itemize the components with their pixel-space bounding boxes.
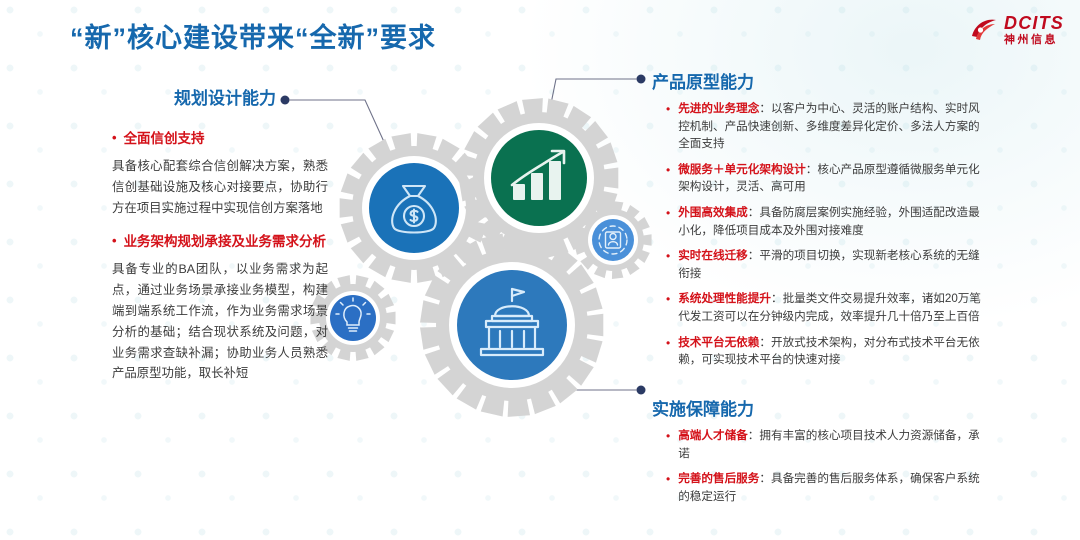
right-list-item: •外围高效集成：具备防腐层案例实施经验，外围适配改造最小化，降低项目成本及外围对… — [666, 204, 986, 239]
page-title: “新”核心建设带来“全新”要求 — [70, 16, 436, 55]
right-list-item: •技术平台无依赖：开放式技术架构，对分布式技术平台无依赖，可实现技术平台的快速对… — [666, 334, 986, 369]
right-list-item-text: 先进的业务理念：以客户为中心、灵活的账户结构、实时风控机制、产品快速创新、多维度… — [678, 100, 986, 153]
right-list-item-separator: ： — [771, 292, 783, 305]
right-list-item-lead: 技术平台无依赖 — [678, 336, 759, 349]
gear-bank-building — [420, 233, 603, 417]
bullet-dot: • — [666, 427, 670, 445]
left-block-title-row: • 业务架构规划承接及业务需求分析 — [112, 232, 328, 253]
right-list-item: •先进的业务理念：以客户为中心、灵活的账户结构、实时风控机制、产品快速创新、多维… — [666, 100, 986, 153]
right-list-item-text: 外围高效集成：具备防腐层案例实施经验，外围适配改造最小化，降低项目成本及外围对接… — [678, 204, 986, 239]
right-group-product: 产品原型能力 •先进的业务理念：以客户为中心、灵活的账户结构、实时风控机制、产品… — [652, 68, 986, 369]
gear-user-badge — [574, 201, 651, 279]
left-block: • 全面信创支持 具备核心配套综合信创解决方案，熟悉信创基础设施及核心对接要点，… — [112, 129, 328, 218]
bullet-dot: • — [666, 334, 670, 352]
right-list-item: •完善的售后服务：具备完善的售后服务体系，确保客户系统的稳定运行 — [666, 470, 986, 505]
bullet-dot: • — [666, 290, 670, 308]
left-block-body: 具备专业的BA团队，以业务需求为起点，通过业务场景承接业务模型，构建端到端系统工… — [112, 259, 328, 384]
right-list-item-text: 完善的售后服务：具备完善的售后服务体系，确保客户系统的稳定运行 — [678, 470, 986, 505]
right-list-item-text: 技术平台无依赖：开放式技术架构，对分布式技术平台无依赖，可实现技术平台的快速对接 — [678, 334, 986, 369]
left-block: • 业务架构规划承接及业务需求分析 具备专业的BA团队，以业务需求为起点，通过业… — [112, 232, 328, 384]
right-list-item-separator: ： — [806, 163, 818, 176]
bullet-dot: • — [112, 232, 117, 251]
right-list-item-separator: ： — [748, 206, 760, 219]
bullet-dot: • — [666, 100, 670, 118]
right-list-item: •系统处理性能提升：批量类文件交易提升效率，诸如20万笔代发工资可以在分钟级内完… — [666, 290, 986, 325]
bullet-dot: • — [666, 204, 670, 222]
implementation-item-list: •高端人才储备：拥有丰富的核心项目技术人力资源储备，承诺•完善的售后服务：具备完… — [652, 427, 986, 505]
right-heading-product: 产品原型能力 — [652, 68, 986, 93]
gear-illustration — [300, 60, 660, 460]
left-block-title-row: • 全面信创支持 — [112, 129, 328, 150]
bullet-dot: • — [666, 247, 670, 265]
right-list-item-separator: ： — [759, 336, 771, 349]
left-text-column: 规划设计能力 • 全面信创支持 具备核心配套综合信创解决方案，熟悉信创基础设施及… — [112, 84, 328, 398]
right-text-column: 产品原型能力 •先进的业务理念：以客户为中心、灵活的账户结构、实时风控机制、产品… — [652, 68, 986, 513]
right-list-item-lead: 系统处理性能提升 — [678, 292, 771, 305]
bullet-dot: • — [666, 470, 670, 488]
logo-name: DCITS — [1004, 14, 1064, 32]
bullet-dot: • — [112, 129, 117, 148]
left-block-title: 业务架构规划承接及业务需求分析 — [124, 232, 327, 253]
product-item-list: •先进的业务理念：以客户为中心、灵活的账户结构、实时风控机制、产品快速创新、多维… — [652, 100, 986, 369]
right-list-item-text: 系统处理性能提升：批量类文件交易提升效率，诸如20万笔代发工资可以在分钟级内完成… — [678, 290, 986, 325]
right-list-item-separator: ： — [759, 102, 771, 115]
right-group-implementation: 实施保障能力 •高端人才储备：拥有丰富的核心项目技术人力资源储备，承诺•完善的售… — [652, 395, 986, 505]
right-list-item: •微服务＋单元化架构设计：核心产品原型遵循微服务单元化架构设计，灵活、高可用 — [666, 161, 986, 196]
right-heading-implementation: 实施保障能力 — [652, 395, 986, 420]
bullet-dot: • — [666, 161, 670, 179]
right-list-item-separator: ： — [748, 249, 760, 262]
right-list-item-lead: 完善的售后服务 — [678, 472, 759, 485]
logo-subname: 神州信息 — [1004, 35, 1064, 46]
right-list-item-lead: 高端人才储备 — [678, 429, 748, 442]
right-list-item-lead: 外围高效集成 — [678, 206, 748, 219]
right-list-item-text: 高端人才储备：拥有丰富的核心项目技术人力资源储备，承诺 — [678, 427, 986, 462]
right-list-item-lead: 实时在线迁移 — [678, 249, 748, 262]
right-list-item-separator: ： — [748, 429, 760, 442]
left-block-title: 全面信创支持 — [124, 129, 205, 150]
right-list-item-lead: 微服务＋单元化架构设计 — [678, 163, 806, 176]
right-list-item-text: 实时在线迁移：平滑的项目切换，实现新老核心系统的无缝衔接 — [678, 247, 986, 282]
right-list-item-lead: 先进的业务理念 — [678, 102, 759, 115]
right-list-item: •高端人才储备：拥有丰富的核心项目技术人力资源储备，承诺 — [666, 427, 986, 462]
swoosh-icon — [969, 15, 999, 45]
left-heading: 规划设计能力 — [112, 84, 328, 109]
right-list-item: •实时在线迁移：平滑的项目切换，实现新老核心系统的无缝衔接 — [666, 247, 986, 282]
company-logo: DCITS 神州信息 — [969, 14, 1064, 46]
left-block-body: 具备核心配套综合信创解决方案，熟悉信创基础设施及核心对接要点，协助行方在项目实施… — [112, 156, 328, 218]
right-list-item-separator: ： — [759, 472, 771, 485]
right-list-item-text: 微服务＋单元化架构设计：核心产品原型遵循微服务单元化架构设计，灵活、高可用 — [678, 161, 986, 196]
